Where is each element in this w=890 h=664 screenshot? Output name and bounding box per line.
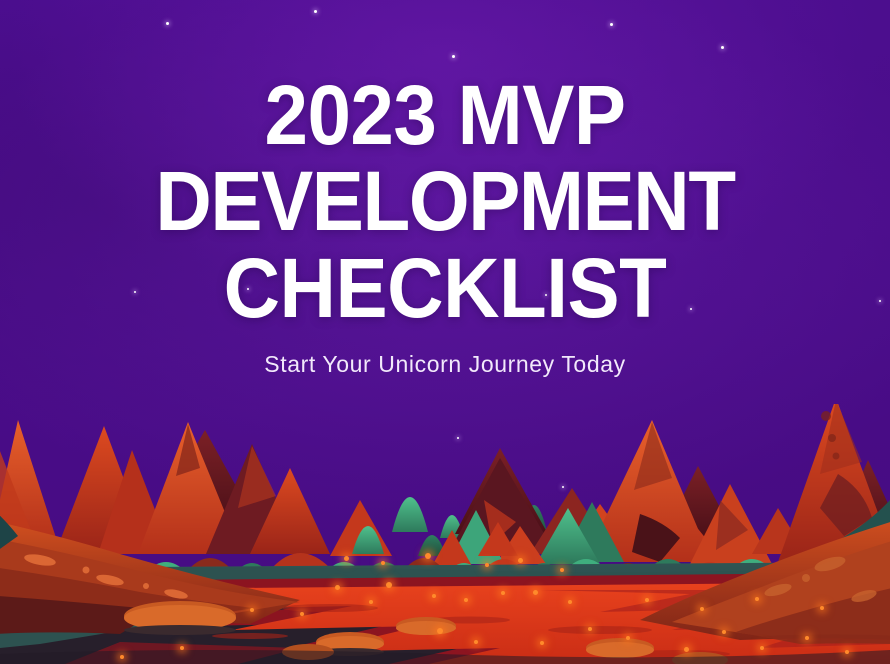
star-icon	[166, 22, 169, 25]
ember-particle-icon	[180, 646, 184, 650]
ember-particle-icon	[120, 655, 124, 659]
ember-particle-icon	[760, 646, 764, 650]
ember-particle-icon	[588, 627, 592, 631]
ember-particle-icon	[845, 650, 849, 654]
ember-particle-icon	[432, 594, 436, 598]
ember-particle-icon	[437, 628, 443, 634]
ember-particle-icon	[386, 582, 392, 588]
star-icon	[721, 46, 724, 49]
ember-particle-icon	[820, 606, 824, 610]
star-icon	[247, 288, 249, 290]
ember-particle-icon	[755, 597, 759, 601]
star-icon	[545, 294, 547, 296]
ember-particle-icon	[501, 591, 505, 595]
ember-particle-icon	[518, 558, 523, 563]
ember-particle-icon	[474, 640, 478, 644]
ember-particle-icon	[485, 563, 489, 567]
ember-particle-icon	[300, 612, 304, 616]
landscape-illustration	[0, 404, 890, 664]
ember-particle-icon	[425, 553, 431, 559]
star-icon	[134, 291, 136, 293]
star-icon	[690, 308, 692, 310]
ember-particle-icon	[626, 636, 630, 640]
star-icon	[452, 55, 455, 58]
ember-particle-icon	[335, 585, 340, 590]
ember-particle-icon	[540, 641, 544, 645]
ember-particle-icon	[533, 590, 538, 595]
ember-particle-icon	[805, 636, 809, 640]
ember-particle-icon	[250, 608, 254, 612]
star-icon	[314, 10, 317, 13]
ember-particle-icon	[568, 600, 572, 604]
ember-particle-icon	[684, 647, 689, 652]
ember-particle-icon	[560, 568, 564, 572]
poster-canvas: 2023 MVP DEVELOPMENT CHECKLIST Start You…	[0, 0, 890, 664]
ember-particle-icon	[381, 561, 385, 565]
ember-particle-icon	[344, 556, 349, 561]
peak-cluster-left	[0, 420, 330, 554]
ember-particle-icon	[464, 598, 468, 602]
ember-particle-icon	[722, 630, 726, 634]
star-icon	[610, 23, 613, 26]
ember-particle-icon	[369, 600, 373, 604]
star-icon	[879, 300, 881, 302]
ember-particle-icon	[645, 598, 649, 602]
ember-particle-icon	[700, 607, 704, 611]
